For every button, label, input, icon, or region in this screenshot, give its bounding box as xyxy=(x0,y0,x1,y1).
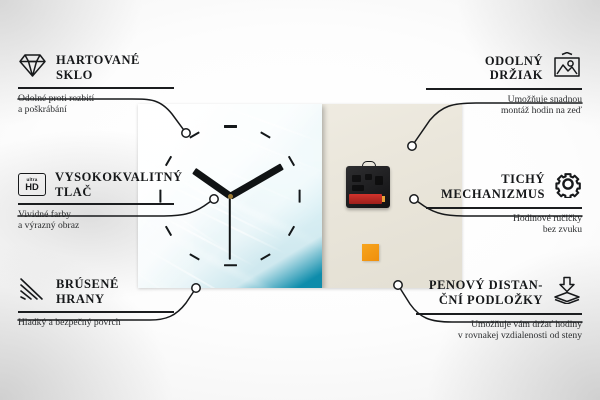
feature-title: ODOLNÝ DRŽIAK xyxy=(485,54,543,83)
foam-spacer-icon xyxy=(552,276,582,309)
feature-header: HARTOVANÉ SKLO xyxy=(18,52,174,83)
connector-dot-left-1 xyxy=(182,129,190,137)
feature-header: TICHÝ MECHANIZMUS xyxy=(426,170,582,203)
feature-header: ODOLNÝ DRŽIAK xyxy=(426,52,582,84)
picture-hanger-icon xyxy=(552,52,582,84)
feature-description: Umožňuje snadnou montáž hodin na zeď xyxy=(426,94,582,117)
connector-dot-right-1 xyxy=(408,142,416,150)
feature-title: PENOVÝ DISTAN- ČNÍ PODLOŽKY xyxy=(429,278,543,307)
feature-divider xyxy=(18,87,174,89)
feature-description: Hladký a bezpečný povrch xyxy=(18,317,174,329)
feature-title: TICHÝ MECHANIZMUS xyxy=(441,172,545,201)
feature-durable-hanger: ODOLNÝ DRŽIAK Umožňuje snadnou montáž ho… xyxy=(426,52,582,117)
connector-dot-left-2 xyxy=(210,195,218,203)
feature-divider xyxy=(18,203,174,205)
gear-icon xyxy=(554,170,582,203)
ultra-hd-badge-icon: ultra HD xyxy=(18,173,46,196)
feature-divider xyxy=(18,311,174,313)
infographic-canvas: HARTOVANÉ SKLO Odolné proti rozbití a po… xyxy=(0,0,600,400)
feature-description: Odolné proti rozbití a poškrábání xyxy=(18,93,174,116)
feature-title: HARTOVANÉ SKLO xyxy=(56,53,140,82)
feature-description: Hodinové ručičky bez zvuku xyxy=(426,213,582,236)
diamond-icon xyxy=(18,52,47,83)
feature-header: ultra HD VYSOKOKVALITNÝ TLAČ xyxy=(18,170,174,199)
feature-silent-mechanism: TICHÝ MECHANIZMUS Hodinové ručičky bez z… xyxy=(426,170,582,236)
feature-divider xyxy=(426,88,582,90)
connector-dot-right-3 xyxy=(394,281,402,289)
connector-dot-left-3 xyxy=(192,284,200,292)
feature-high-quality-print: ultra HD VYSOKOKVALITNÝ TLAČ Vividné far… xyxy=(18,170,174,232)
feature-tempered-glass: HARTOVANÉ SKLO Odolné proti rozbití a po… xyxy=(18,52,174,116)
feature-divider xyxy=(426,207,582,209)
feature-title: VYSOKOKVALITNÝ TLAČ xyxy=(55,170,183,199)
feature-divider xyxy=(416,313,582,315)
feature-foam-spacers: PENOVÝ DISTAN- ČNÍ PODLOŽKY Umožňuje vám… xyxy=(416,276,582,342)
connector-dot-right-2 xyxy=(410,195,418,203)
feature-header: PENOVÝ DISTAN- ČNÍ PODLOŽKY xyxy=(416,276,582,309)
feature-description: Umožňuje vám držať hodiny v rovnakej vzd… xyxy=(416,319,582,342)
polished-edges-icon xyxy=(18,276,47,307)
feature-title: BRÚSENÉ HRANY xyxy=(56,277,119,306)
feature-description: Vividné farby a výrazný obraz xyxy=(18,209,174,232)
feature-polished-edges: BRÚSENÉ HRANY Hladký a bezpečný povrch xyxy=(18,276,174,328)
feature-header: BRÚSENÉ HRANY xyxy=(18,276,174,307)
